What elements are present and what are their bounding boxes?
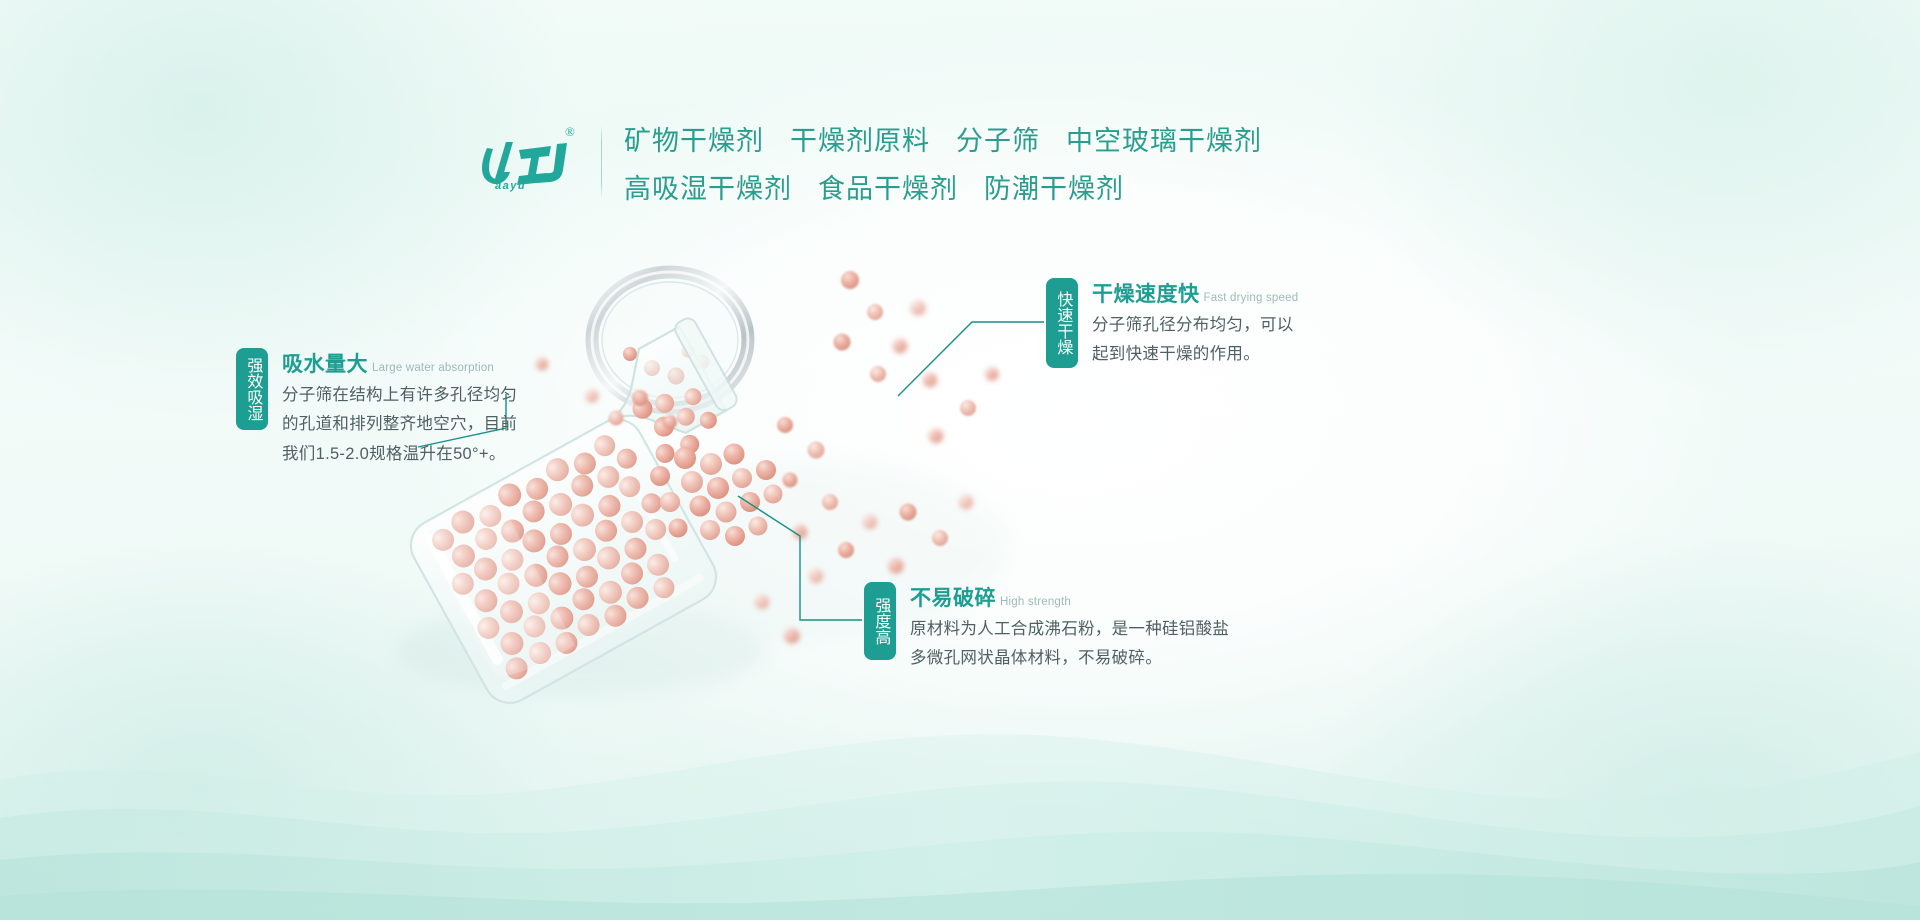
nav-row-1: 矿物干燥剂 干燥剂原料 分子筛 中空玻璃干燥剂 bbox=[624, 119, 1262, 158]
feature-heading-speed: 干燥速度快 Fast drying speed bbox=[1092, 278, 1298, 308]
feature-text-strength: 不易破碎 High strength 原材料为人工合成沸石粉，是一种硅铝酸盐 多… bbox=[910, 582, 1229, 674]
nav-link-insulating-glass-desiccant[interactable]: 中空玻璃干燥剂 bbox=[1066, 119, 1262, 158]
feature-title-strength: 不易破碎 bbox=[910, 582, 996, 612]
nav-link-desiccant-raw-material[interactable]: 干燥剂原料 bbox=[790, 119, 930, 158]
header-divider bbox=[601, 125, 602, 199]
feature-callout-strength: 强度高 不易破碎 High strength 原材料为人工合成沸石粉，是一种硅铝… bbox=[864, 582, 1229, 674]
feature-heading-strength: 不易破碎 High strength bbox=[910, 582, 1229, 612]
feature-badge-speed: 快速干燥 bbox=[1046, 278, 1078, 368]
product-photo-bottle-with-desiccant-beads bbox=[330, 250, 1130, 750]
nav-link-food-desiccant[interactable]: 食品干燥剂 bbox=[818, 167, 958, 206]
registered-trademark-icon: ® bbox=[565, 124, 575, 140]
feature-text-speed: 干燥速度快 Fast drying speed 分子筛孔径分布均匀，可以 起到快… bbox=[1092, 278, 1298, 370]
feature-text-absorption: 吸水量大 Large water absorption 分子筛在结构上有许多孔径… bbox=[282, 348, 517, 469]
nav-row-2: 高吸湿干燥剂 食品干燥剂 防潮干燥剂 bbox=[624, 167, 1262, 206]
banner-header: ® aayu 矿物干燥剂 干燥剂原料 分子筛 中空玻璃干燥剂 高吸湿干燥剂 bbox=[0, 0, 1920, 250]
feature-callout-speed: 快速干燥 干燥速度快 Fast drying speed 分子筛孔径分布均匀，可… bbox=[1046, 278, 1298, 370]
feature-title-absorption: 吸水量大 bbox=[282, 348, 368, 378]
feature-badge-strength: 强度高 bbox=[864, 582, 896, 660]
feature-badge-absorption: 强效吸湿 bbox=[236, 348, 268, 430]
nav-link-mineral-desiccant[interactable]: 矿物干燥剂 bbox=[624, 119, 764, 158]
nav-link-moisture-proof-desiccant[interactable]: 防潮干燥剂 bbox=[984, 167, 1124, 206]
feature-paragraph-absorption: 分子筛在结构上有许多孔径均匀 的孔道和排列整齐地空穴，目前 我们1.5-2.0规… bbox=[282, 381, 517, 469]
feature-callout-absorption: 强效吸湿 吸水量大 Large water absorption 分子筛在结构上… bbox=[236, 348, 517, 469]
nav-link-molecular-sieve[interactable]: 分子筛 bbox=[956, 119, 1040, 158]
feature-paragraph-speed: 分子筛孔径分布均匀，可以 起到快速干燥的作用。 bbox=[1092, 311, 1298, 370]
feature-heading-absorption: 吸水量大 Large water absorption bbox=[282, 348, 517, 378]
product-banner: ® aayu 矿物干燥剂 干燥剂原料 分子筛 中空玻璃干燥剂 高吸湿干燥剂 bbox=[0, 0, 1920, 920]
logo-wordmark: aayu bbox=[495, 180, 526, 192]
nav-link-high-moisture-absorption-desiccant[interactable]: 高吸湿干燥剂 bbox=[624, 167, 792, 206]
feature-subtitle-speed: Fast drying speed bbox=[1204, 292, 1299, 304]
feature-subtitle-absorption: Large water absorption bbox=[372, 362, 494, 374]
feature-title-speed: 干燥速度快 bbox=[1092, 278, 1200, 308]
brand-logo[interactable]: ® aayu bbox=[477, 118, 587, 206]
feature-subtitle-strength: High strength bbox=[1000, 596, 1071, 608]
feature-paragraph-strength: 原材料为人工合成沸石粉，是一种硅铝酸盐 多微孔网状晶体材料，不易破碎。 bbox=[910, 615, 1229, 674]
header-nav: 矿物干燥剂 干燥剂原料 分子筛 中空玻璃干燥剂 高吸湿干燥剂 食品干燥剂 防潮干… bbox=[624, 119, 1262, 206]
